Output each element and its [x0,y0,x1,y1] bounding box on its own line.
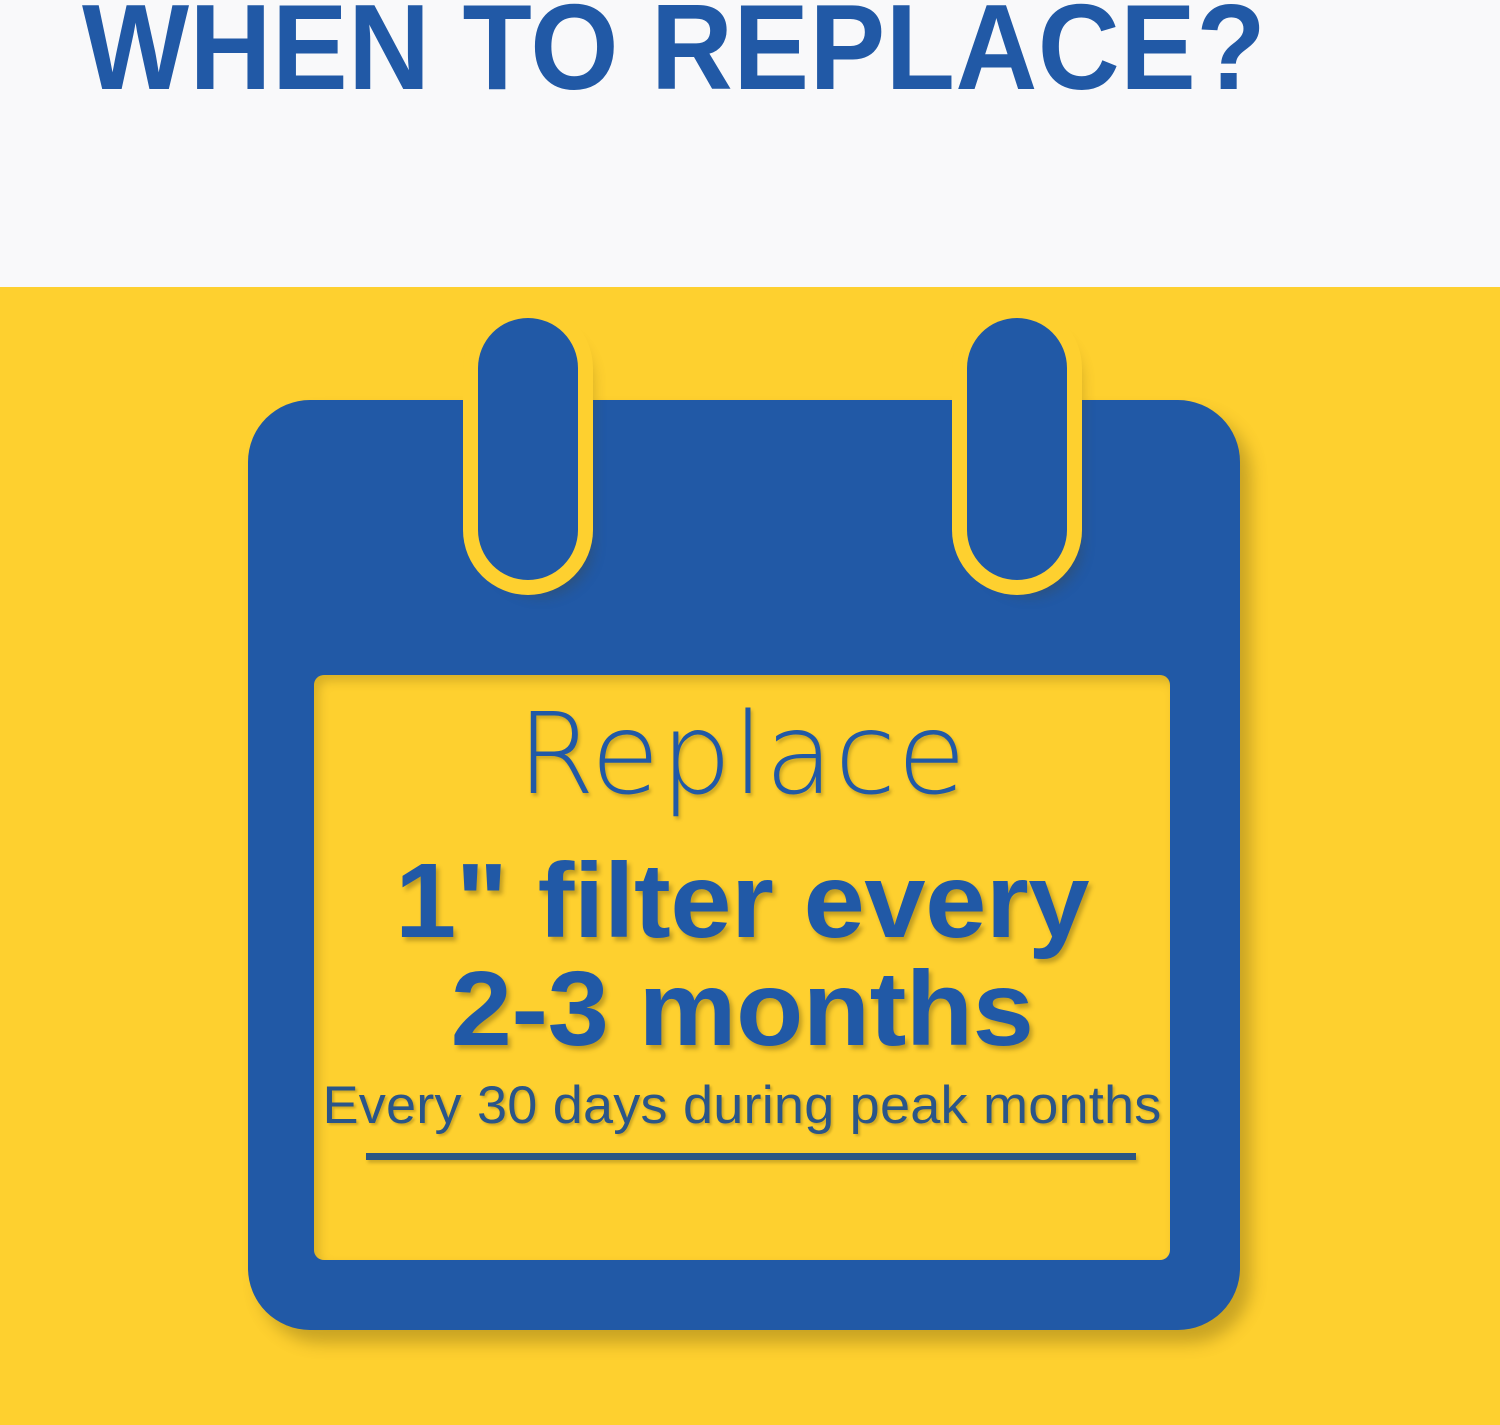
replace-eyebrow: Replace [314,699,1170,811]
calendar-ring-right [967,318,1067,580]
calendar-ring-top-mask [208,287,1288,318]
page-title: WHEN TO REPLACE? [82,0,1266,108]
calendar-icon: Replace 1" filter every 2-3 months Every… [248,400,1240,1330]
yellow-stage: Replace 1" filter every 2-3 months Every… [0,287,1500,1425]
replace-footnote: Every 30 days during peak months [305,1077,1178,1135]
infographic-root: WHEN TO REPLACE? Replace 1" filter every… [0,0,1500,1425]
footnote-underline-rule [366,1153,1136,1160]
calendar-ring-left [478,318,578,580]
header-band: WHEN TO REPLACE? [0,0,1500,287]
replace-headline-line-2: 2-3 months [297,955,1187,1063]
calendar-page-text: Replace 1" filter every 2-3 months Every… [314,675,1170,1260]
replace-headline-line-1: 1" filter every [297,847,1187,955]
replace-headline: 1" filter every 2-3 months [297,847,1187,1063]
